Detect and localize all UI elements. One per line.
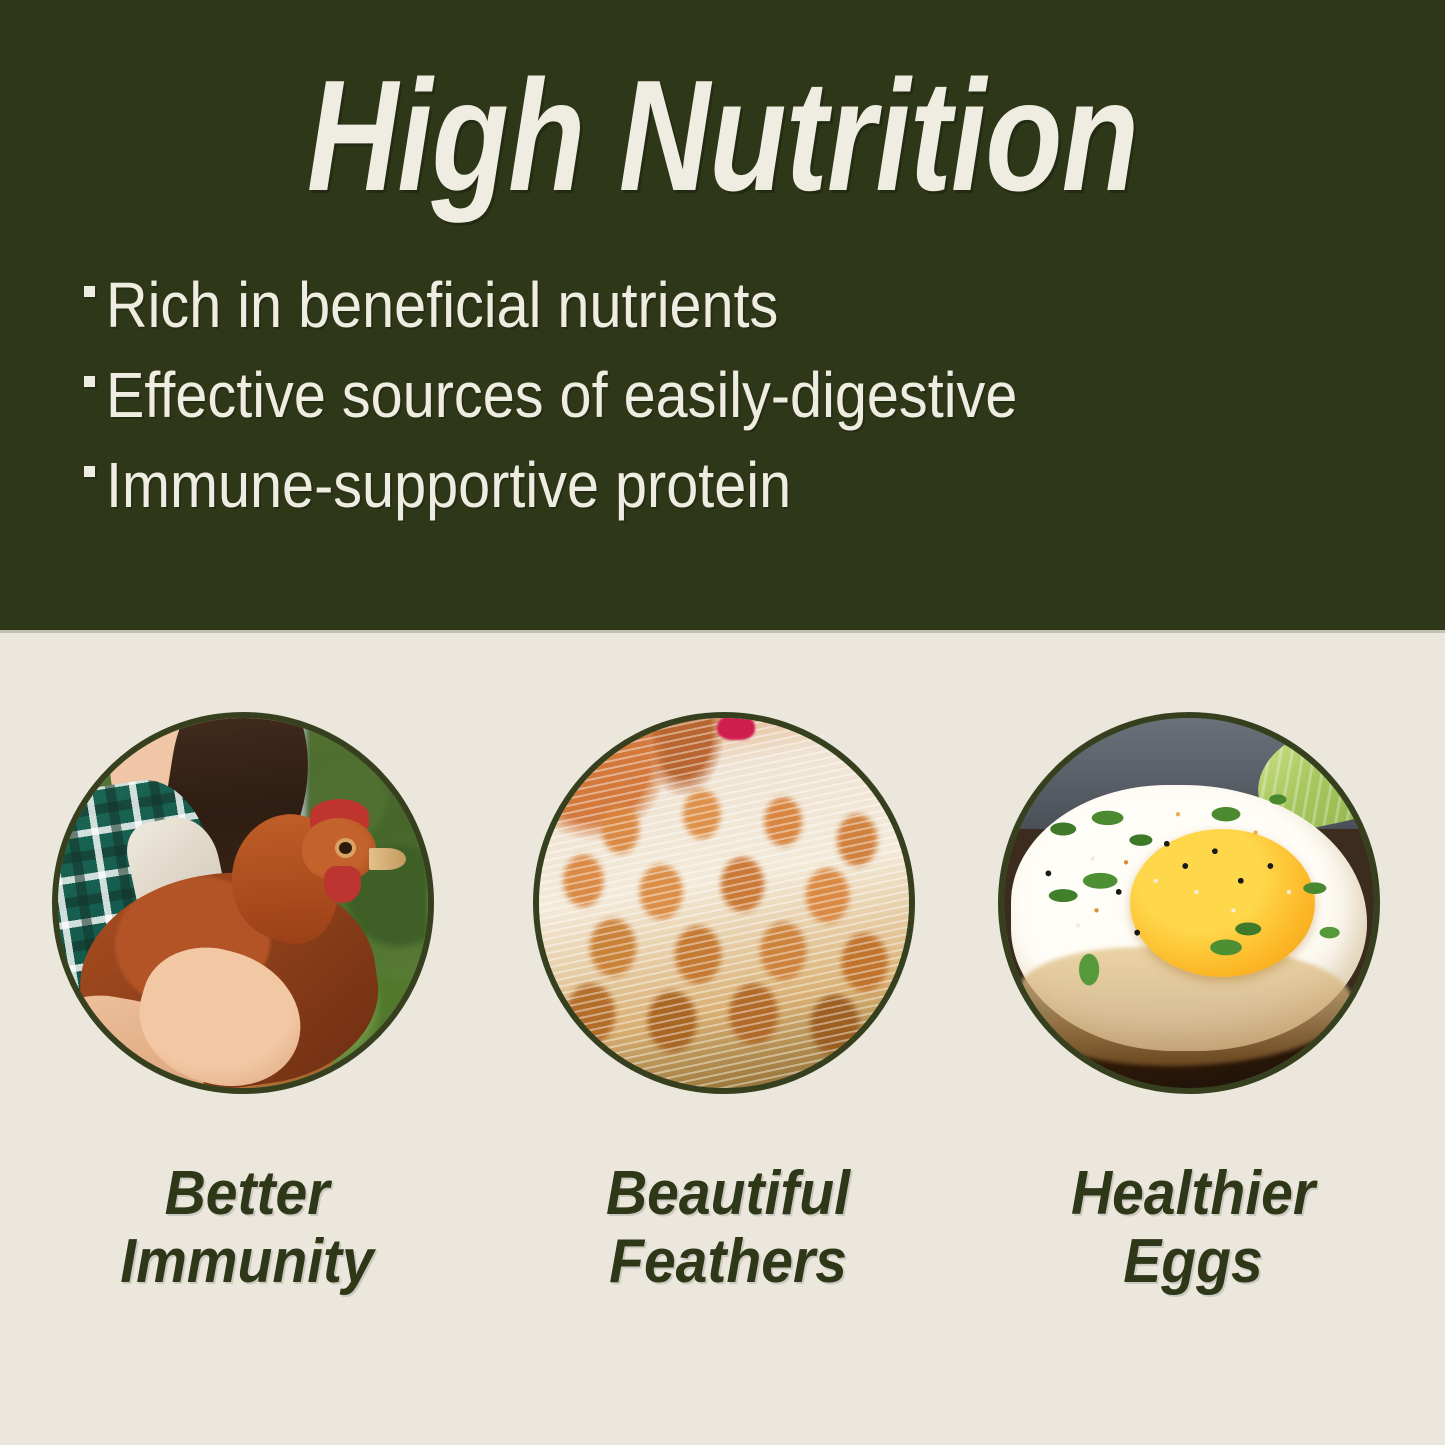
sesame-seed-garnish [1004,718,1374,1088]
feather-barbs [539,718,909,1088]
benefit-item-healthier-eggs: Healthier Eggs [998,712,1388,1296]
benefit-label-line-2: Immunity [68,1228,427,1296]
benefit-label: Healthier Eggs [1014,1160,1373,1296]
benefits-panel: Better Immunity Beautiful Feathers [0,633,1445,1445]
list-item: Rich in beneficial nutrients [84,272,1384,362]
benefit-label: Beautiful Feathers [549,1160,908,1296]
benefit-label-line-2: Eggs [1014,1228,1373,1296]
list-item: Effective sources of easily-digestive [84,362,1384,452]
benefit-item-beautiful-feathers: Beautiful Feathers [533,712,923,1296]
fried-egg-dish-photo [998,712,1380,1094]
benefit-label-line-2: Feathers [549,1228,908,1296]
benefit-label-line-1: Better [165,1159,330,1228]
bullet-text: Effective sources of easily-digestive [106,362,1017,428]
hen-beak [369,848,406,870]
benefit-bullet-list: Rich in beneficial nutrients Effective s… [84,272,1384,542]
hero-panel: High Nutrition Rich in beneficial nutrie… [0,0,1445,633]
list-item: Immune-supportive protein [84,452,1384,542]
benefit-item-better-immunity: Better Immunity [52,712,442,1296]
square-bullet-icon [84,286,95,297]
page-title: High Nutrition [145,52,1301,220]
square-bullet-icon [84,376,95,387]
bullet-text: Rich in beneficial nutrients [106,272,778,338]
benefit-label-line-1: Healthier [1071,1159,1315,1228]
hen-comb-tip [717,718,755,740]
product-feature-poster: High Nutrition Rich in beneficial nutrie… [0,0,1445,1445]
benefit-label: Better Immunity [68,1160,427,1296]
bullet-text: Immune-supportive protein [106,452,791,518]
square-bullet-icon [84,466,95,477]
benefit-label-line-1: Beautiful [606,1159,850,1228]
woman-holding-hen-photo [52,712,434,1094]
chicken-feathers-closeup-photo [533,712,915,1094]
